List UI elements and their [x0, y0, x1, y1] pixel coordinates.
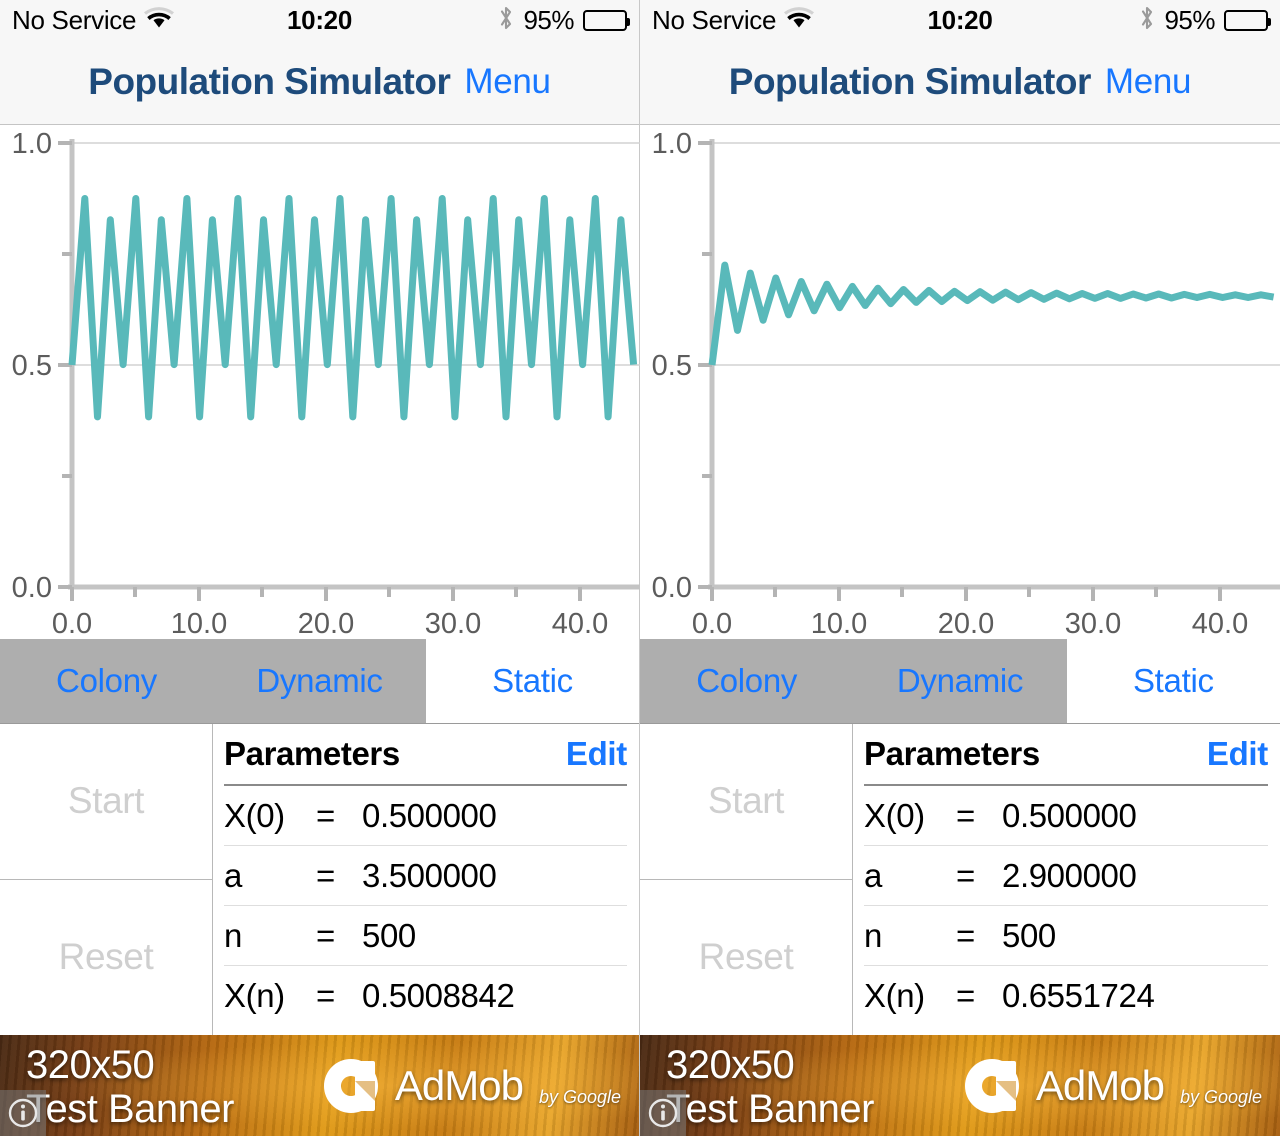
chart-gridlines [712, 143, 1280, 365]
svg-text:0.0: 0.0 [52, 608, 92, 639]
param-value: 0.6551724 [1002, 977, 1154, 1015]
status-bar-left: No Service [12, 5, 174, 36]
segmented-tab-bar[interactable]: Colony Dynamic Static [640, 639, 1280, 724]
svg-text:1.0: 1.0 [12, 128, 52, 160]
edit-button[interactable]: Edit [566, 735, 627, 773]
svg-text:0.0: 0.0 [692, 608, 732, 639]
param-key: a [864, 857, 956, 895]
param-equals: = [316, 797, 362, 835]
menu-button[interactable]: Menu [1105, 62, 1191, 102]
page-title: Population Simulator [88, 61, 450, 103]
admob-by-google: by Google [1180, 1087, 1262, 1108]
param-key: n [864, 917, 956, 955]
table-row[interactable]: X(n) = 0.5008842 [224, 966, 627, 1026]
table-row[interactable]: X(0) = 0.500000 [864, 786, 1268, 846]
dual-simulator-screenshot: No Service 10:20 95% Population Simulato… [0, 0, 1280, 1136]
nav-bar: Population Simulator Menu [0, 40, 639, 125]
tab-static[interactable]: Static [1067, 639, 1280, 723]
status-bar-right: 95% [498, 5, 627, 36]
svg-text:0.0: 0.0 [652, 572, 692, 604]
action-buttons-column: Start Reset [0, 724, 213, 1035]
param-equals: = [316, 857, 362, 895]
chart-svg: 1.0 0.5 0.0 0.0 10.0 20.0 30.0 40.0 [0, 125, 640, 639]
reset-button[interactable]: Reset [640, 880, 852, 1036]
info-icon[interactable] [640, 1090, 686, 1136]
carrier-label: No Service [652, 5, 776, 36]
param-equals: = [316, 977, 362, 1015]
nav-bar: Population Simulator Menu [640, 40, 1280, 125]
admob-logo: AdMob by Google [321, 1055, 621, 1117]
param-value: 3.500000 [362, 857, 496, 895]
chart-y-tick-labels: 1.0 0.5 0.0 [12, 128, 52, 604]
carrier-label: No Service [12, 5, 136, 36]
chart-series-line [712, 265, 1274, 365]
param-key: X(0) [864, 797, 956, 835]
start-button[interactable]: Start [640, 724, 852, 880]
param-equals: = [316, 917, 362, 955]
tab-dynamic[interactable]: Dynamic [213, 639, 426, 723]
phone-screen-right: No Service 10:20 95% Population Simulato… [640, 0, 1280, 1136]
table-row[interactable]: n = 500 [864, 906, 1268, 966]
segmented-tab-bar[interactable]: Colony Dynamic Static [0, 639, 639, 724]
svg-text:0.5: 0.5 [652, 350, 692, 382]
population-chart-right: 1.0 0.5 0.0 0.0 10.0 20.0 30.0 40.0 [640, 125, 1280, 639]
table-row[interactable]: a = 2.900000 [864, 846, 1268, 906]
chart-x-tick-labels: 0.0 10.0 20.0 30.0 40.0 [692, 608, 1248, 639]
tab-colony[interactable]: Colony [640, 639, 853, 723]
population-chart-left: 1.0 0.5 0.0 0.0 10.0 20.0 30.0 40.0 [0, 125, 639, 639]
ad-banner-label: Test Banner [26, 1087, 234, 1131]
tab-colony[interactable]: Colony [0, 639, 213, 723]
param-key: n [224, 917, 316, 955]
table-row[interactable]: n = 500 [224, 906, 627, 966]
page-title: Population Simulator [729, 61, 1091, 103]
reset-button[interactable]: Reset [0, 880, 212, 1036]
svg-text:40.0: 40.0 [1192, 608, 1248, 639]
param-equals: = [956, 857, 1002, 895]
svg-text:40.0: 40.0 [552, 608, 608, 639]
battery-icon [1224, 10, 1268, 31]
svg-text:20.0: 20.0 [298, 608, 354, 639]
ad-text: 320x50 Test Banner [666, 1043, 874, 1131]
wifi-icon [144, 7, 174, 34]
chart-x-tick-labels: 0.0 10.0 20.0 30.0 40.0 [52, 608, 608, 639]
battery-percent-label: 95% [523, 5, 574, 36]
wifi-icon [784, 7, 814, 34]
svg-text:20.0: 20.0 [938, 608, 994, 639]
menu-button[interactable]: Menu [464, 62, 550, 102]
status-bar-right: 95% [1139, 5, 1268, 36]
parameters-header: Parameters Edit [224, 724, 627, 786]
status-bar-left: No Service [652, 5, 814, 36]
param-key: X(n) [864, 977, 956, 1015]
edit-button[interactable]: Edit [1207, 735, 1268, 773]
param-key: X(0) [224, 797, 316, 835]
table-row[interactable]: X(0) = 0.500000 [224, 786, 627, 846]
table-row[interactable]: X(n) = 0.6551724 [864, 966, 1268, 1026]
tab-dynamic[interactable]: Dynamic [853, 639, 1066, 723]
chart-svg: 1.0 0.5 0.0 0.0 10.0 20.0 30.0 40.0 [640, 125, 1280, 639]
param-value: 2.900000 [1002, 857, 1136, 895]
controls-and-parameters: Start Reset Parameters Edit X(0) = 0.500… [0, 724, 639, 1035]
status-bar: No Service 10:20 95% [0, 0, 639, 40]
svg-text:10.0: 10.0 [171, 608, 227, 639]
start-button[interactable]: Start [0, 724, 212, 880]
param-value: 0.500000 [1002, 797, 1136, 835]
ad-banner[interactable]: 320x50 Test Banner AdMob by Google [640, 1035, 1280, 1136]
svg-text:0.5: 0.5 [12, 350, 52, 382]
chart-y-tick-labels: 1.0 0.5 0.0 [652, 128, 692, 604]
ad-banner[interactable]: 320x50 Test Banner AdMob by Google [0, 1035, 639, 1136]
chart-axes [708, 139, 1280, 587]
svg-text:30.0: 30.0 [1065, 608, 1121, 639]
parameters-header: Parameters Edit [864, 724, 1268, 786]
parameters-panel: Parameters Edit X(0) = 0.500000 a = 2.90… [853, 724, 1280, 1035]
param-key: a [224, 857, 316, 895]
param-equals: = [956, 797, 1002, 835]
admob-logo: AdMob by Google [962, 1055, 1262, 1117]
param-equals: = [956, 917, 1002, 955]
ad-banner-label: Test Banner [666, 1087, 874, 1131]
svg-text:10.0: 10.0 [811, 608, 867, 639]
param-value: 0.5008842 [362, 977, 514, 1015]
admob-wordmark: AdMob [1036, 1062, 1164, 1110]
parameters-title: Parameters [224, 735, 400, 773]
battery-percent-label: 95% [1164, 5, 1215, 36]
param-value: 0.500000 [362, 797, 496, 835]
admob-by-google: by Google [539, 1087, 621, 1108]
battery-icon [583, 10, 627, 31]
controls-and-parameters: Start Reset Parameters Edit X(0) = 0.500… [640, 724, 1280, 1035]
ad-size-label: 320x50 [26, 1043, 234, 1087]
param-value: 500 [362, 917, 416, 955]
bluetooth-icon [498, 5, 514, 36]
param-value: 500 [1002, 917, 1056, 955]
table-row[interactable]: a = 3.500000 [224, 846, 627, 906]
param-equals: = [956, 977, 1002, 1015]
svg-text:30.0: 30.0 [425, 608, 481, 639]
svg-text:0.0: 0.0 [12, 572, 52, 604]
admob-mark-icon [321, 1055, 383, 1117]
action-buttons-column: Start Reset [640, 724, 853, 1035]
svg-text:1.0: 1.0 [652, 128, 692, 160]
bluetooth-icon [1139, 5, 1155, 36]
param-key: X(n) [224, 977, 316, 1015]
phone-screen-left: No Service 10:20 95% Population Simulato… [0, 0, 640, 1136]
admob-wordmark: AdMob [395, 1062, 523, 1110]
admob-mark-icon [962, 1055, 1024, 1117]
parameters-panel: Parameters Edit X(0) = 0.500000 a = 3.50… [213, 724, 639, 1035]
ad-text: 320x50 Test Banner [26, 1043, 234, 1131]
ad-size-label: 320x50 [666, 1043, 874, 1087]
status-bar: No Service 10:20 95% [640, 0, 1280, 40]
chart-series-line [72, 199, 634, 417]
parameters-title: Parameters [864, 735, 1040, 773]
tab-static[interactable]: Static [426, 639, 639, 723]
info-icon[interactable] [0, 1090, 46, 1136]
